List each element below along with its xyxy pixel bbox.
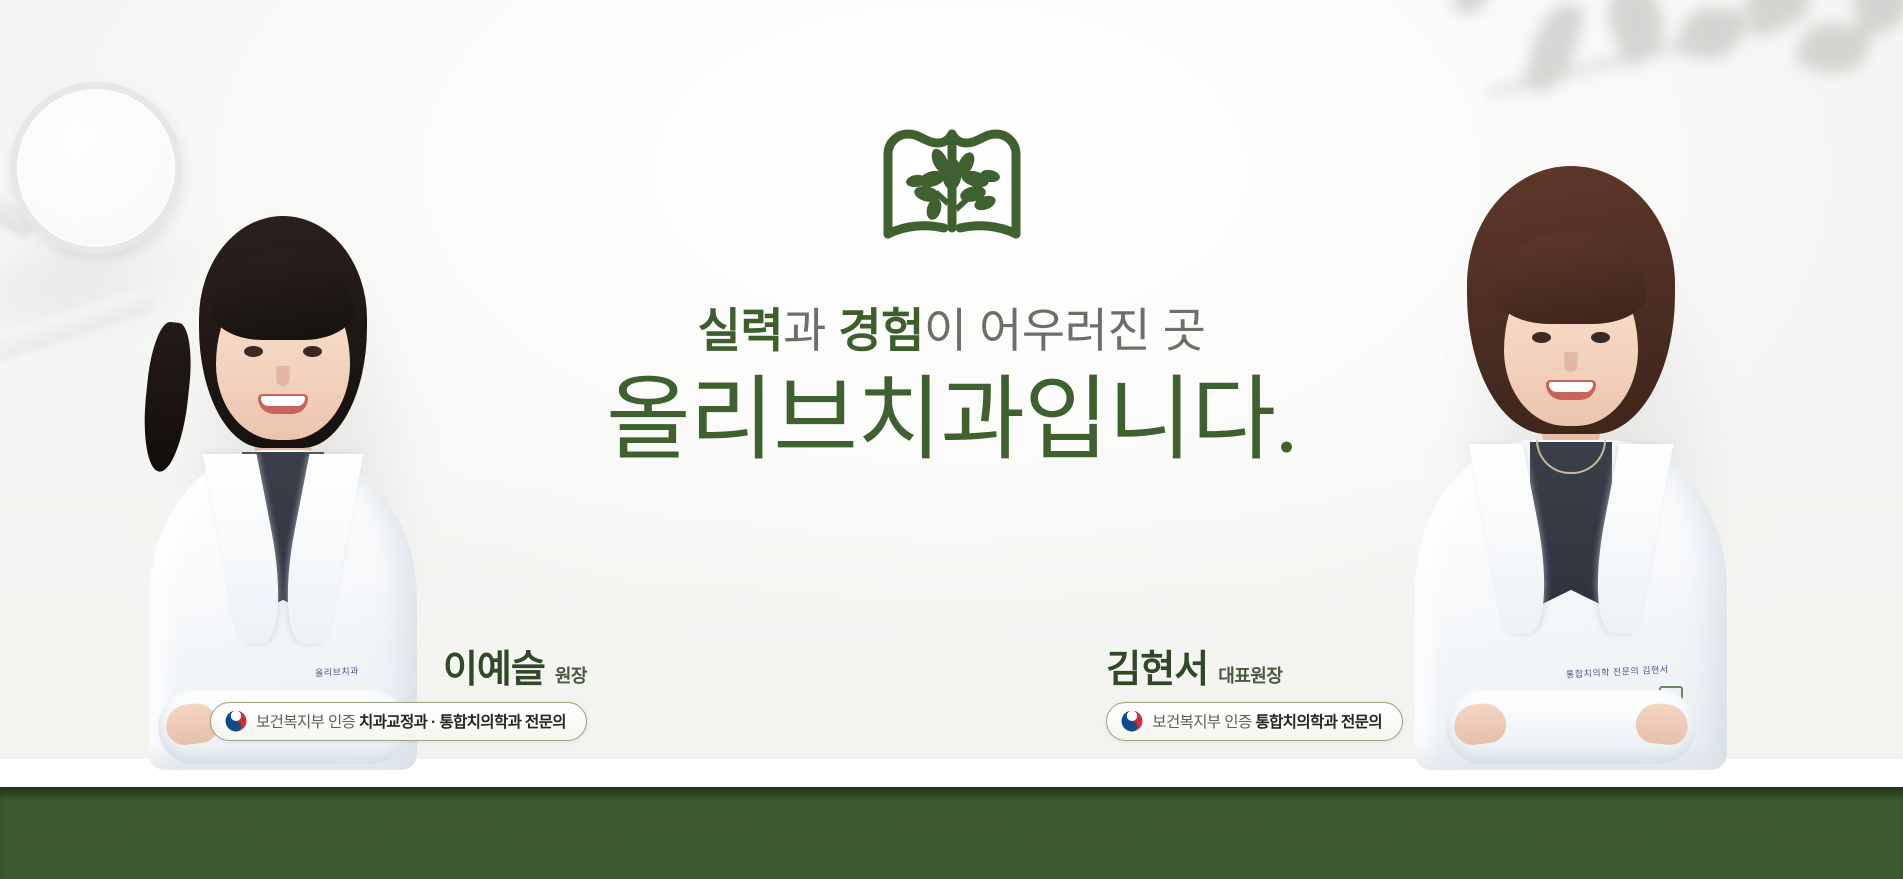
certification-text: 보건복지부 인증 통합치의학과 전문의 xyxy=(1152,710,1382,732)
certification-specialty: 치과교정과 · 통합치의학과 전문의 xyxy=(359,714,566,731)
tagline-middle: 과 xyxy=(783,304,838,357)
doctor-role: 대표원장 xyxy=(1218,667,1282,685)
doctor-name: 이예슬 xyxy=(443,651,545,689)
certification-prefix: 보건복지부 인증 xyxy=(1152,714,1255,731)
nameplate-left: 이예슬 원장 보건복지부 인증 치과교정과 · 통합치의학과 전문의 xyxy=(210,651,587,741)
coat-embroidery-text: 통합치의학 전문의 김현서 xyxy=(1566,662,1669,680)
certification-prefix: 보건복지부 인증 xyxy=(256,714,359,731)
doctor-name: 김현서 xyxy=(1106,651,1208,689)
certification-text: 보건복지부 인증 치과교정과 · 통합치의학과 전문의 xyxy=(256,710,566,732)
bottom-green-bar xyxy=(0,787,1903,879)
tagline-highlight-1: 실력 xyxy=(698,304,783,357)
crossed-arms xyxy=(1446,690,1696,764)
doctor-role: 원장 xyxy=(555,667,587,685)
name-row: 이예슬 원장 xyxy=(443,651,587,689)
taeguk-icon xyxy=(225,710,247,732)
open-book-tree-icon xyxy=(878,124,1026,246)
certification-badge: 보건복지부 인증 치과교정과 · 통합치의학과 전문의 xyxy=(210,702,587,741)
nameplate-right: 김현서 대표원장 보건복지부 인증 통합치의학과 전문의 xyxy=(1106,651,1403,741)
tagline-tail: 이 어우러진 곳 xyxy=(924,304,1206,357)
tagline-highlight-2: 경험 xyxy=(838,304,923,357)
name-row: 김현서 대표원장 xyxy=(1106,651,1282,689)
certification-badge: 보건복지부 인증 통합치의학과 전문의 xyxy=(1106,702,1403,741)
hero-center-content: 실력과 경험이 어우러진 곳 올리브치과입니다. xyxy=(0,124,1903,471)
hero-headline: 올리브치과입니다. xyxy=(606,370,1297,471)
certification-specialty: 통합치의학과 전문의 xyxy=(1255,714,1382,731)
hero-tagline: 실력과 경험이 어우러진 곳 xyxy=(698,304,1206,358)
taeguk-icon xyxy=(1121,710,1143,732)
hero-banner: 올리브치과 xyxy=(0,0,1903,879)
